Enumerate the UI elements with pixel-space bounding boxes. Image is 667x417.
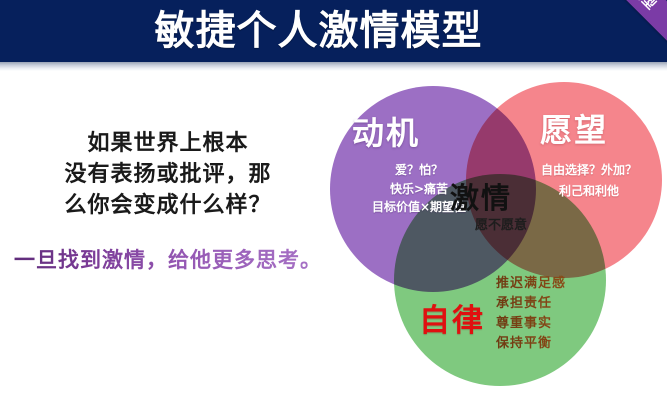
page-title: 敏捷个人激情模型 xyxy=(0,0,667,62)
slide-canvas: 敏捷个人激情模型 模型 如果世界上根本 没有表扬或批评，那 么你会变成什么样？ … xyxy=(0,0,667,417)
venn-label-desire-title: 愿望 xyxy=(540,110,608,150)
venn-label-discipline-lines: 推迟满足感 承担责任 尊重事实 保持平衡 xyxy=(496,274,606,355)
tagline-text: 一旦找到激情，给他更多思考。 xyxy=(8,248,328,273)
desire-line-1: 自由选择？外加？ xyxy=(514,160,664,181)
discipline-line-2: 承担责任 xyxy=(496,294,606,314)
venn-diagram: 动机 爱？怕？ 快乐>痛苦 目标价值×期望值 愿望 自由选择？外加？ 利己和利他… xyxy=(318,66,667,396)
desire-line-2: 利己和利他 xyxy=(514,181,664,202)
header-bar: 敏捷个人激情模型 模型 xyxy=(0,0,667,62)
discipline-line-1: 推迟满足感 xyxy=(496,274,606,294)
venn-label-center-title: 激情 xyxy=(450,180,512,216)
quote-text: 如果世界上根本 没有表扬或批评，那 么你会变成什么样？ xyxy=(8,128,328,222)
discipline-line-3: 尊重事实 xyxy=(496,314,606,334)
left-text-panel: 如果世界上根本 没有表扬或批评，那 么你会变成什么样？ 一旦找到激情，给他更多思… xyxy=(8,128,328,273)
discipline-line-4: 保持平衡 xyxy=(496,334,606,354)
venn-labels-layer: 动机 爱？怕？ 快乐>痛苦 目标价值×期望值 愿望 自由选择？外加？ 利己和利他… xyxy=(318,66,667,396)
motive-line-1: 爱？怕？ xyxy=(346,161,492,180)
venn-label-center-subtitle: 愿不愿意 xyxy=(456,218,546,234)
venn-label-discipline-title: 自律 xyxy=(419,302,485,341)
venn-label-desire-lines: 自由选择？外加？ 利己和利他 xyxy=(514,160,664,202)
venn-label-motive-title: 动机 xyxy=(352,113,420,153)
